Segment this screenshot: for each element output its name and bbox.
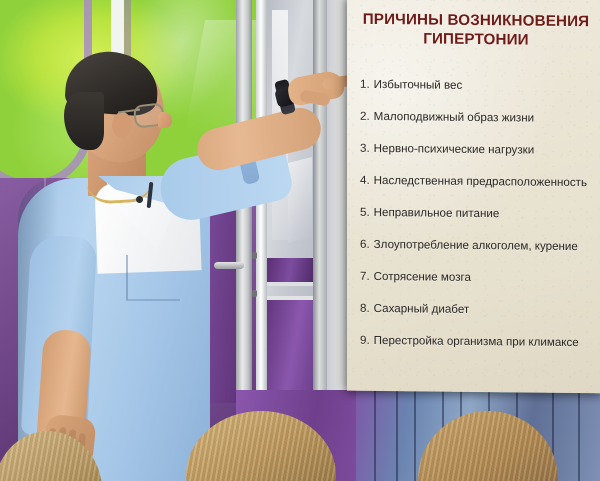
chest-pocket xyxy=(126,255,180,301)
list-item: 3. Нервно-психические нагрузки xyxy=(347,132,600,167)
list-item-number: 2. xyxy=(360,109,370,122)
list-item: 9. Перестройка организма при климаксе xyxy=(347,324,600,359)
presentation-board[interactable]: ПРИЧИНЫ ВОЗНИКНОВЕНИЯ ГИПЕРТОНИИ 1. Избы… xyxy=(347,0,600,393)
list-item-number: 5. xyxy=(360,205,370,218)
list-item-number: 4. xyxy=(360,173,370,186)
screenshot-frame: ПРИЧИНЫ ВОЗНИКНОВЕНИЯ ГИПЕРТОНИИ 1. Избы… xyxy=(0,0,600,481)
board-title: ПРИЧИНЫ ВОЗНИКНОВЕНИЯ ГИПЕРТОНИИ xyxy=(359,11,593,50)
list-item: 1. Избыточный вес xyxy=(347,68,600,103)
list-item-label: Избыточный вес xyxy=(374,77,463,91)
list-item-label: Нервно-психические нагрузки xyxy=(374,141,535,156)
causes-list: 1. Избыточный вес 2. Малоподвижный образ… xyxy=(347,68,600,359)
presenter-ear xyxy=(112,112,132,138)
list-item-number: 6. xyxy=(360,237,370,250)
list-item: 4. Наследственная предрасположенность xyxy=(347,164,600,199)
list-item-label: Наследственная предрасположенность xyxy=(374,173,587,188)
clip-microphone-icon xyxy=(136,196,143,203)
list-item-label: Неправильное питание xyxy=(374,205,500,219)
list-item: 5. Неправильное питание xyxy=(347,196,600,231)
board-title-line-2: ГИПЕРТОНИИ xyxy=(359,29,593,50)
list-item: 8. Сахарный диабет xyxy=(347,292,600,327)
board-title-line-1: ПРИЧИНЫ ВОЗНИКНОВЕНИЯ xyxy=(363,11,590,30)
audience-foreground xyxy=(0,371,600,481)
list-item-label: Сахарный диабет xyxy=(374,301,470,315)
list-item-number: 1. xyxy=(360,77,370,90)
list-item-label: Малоподвижный образ жизни xyxy=(374,109,534,124)
list-item: 6. Злоупотребление алкоголем, курение xyxy=(347,228,600,263)
list-item-label: Сотрясение мозга xyxy=(374,269,471,283)
list-item-label: Злоупотребление алкоголем, курение xyxy=(374,237,578,252)
audience-head xyxy=(186,411,336,481)
list-item-number: 9. xyxy=(360,333,370,346)
presenter-nose xyxy=(158,112,172,128)
presenter-hair-back xyxy=(64,92,104,150)
list-item: 7. Сотрясение мозга xyxy=(347,260,600,295)
list-item-number: 7. xyxy=(360,269,370,282)
list-item-label: Перестройка организма при климаксе xyxy=(374,333,579,348)
list-item-number: 8. xyxy=(360,301,370,314)
audience-head xyxy=(0,431,102,481)
audience-head xyxy=(418,411,558,481)
list-item: 2. Малоподвижный образ жизни xyxy=(347,100,600,135)
list-item-number: 3. xyxy=(360,141,370,154)
